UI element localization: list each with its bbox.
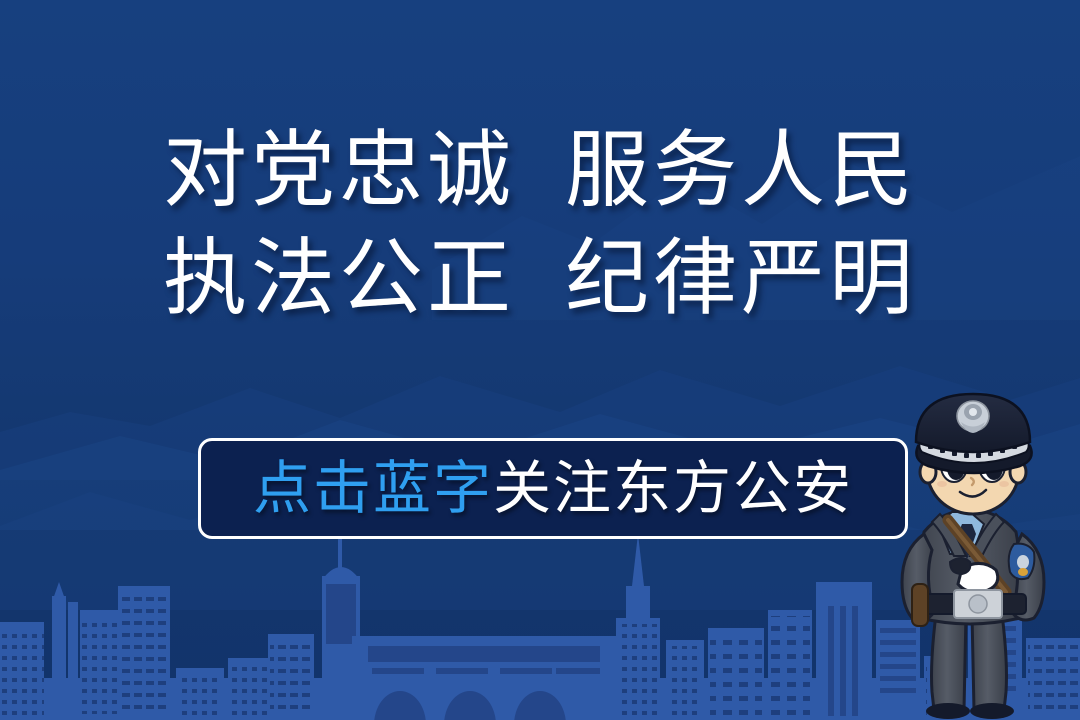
headline-block: 对党忠诚 服务人民 执法公正 纪律严明 (0, 118, 1080, 334)
headline-line-2: 执法公正 纪律严明 (0, 226, 1080, 334)
cta-plain-text: 关注东方公安 (493, 456, 853, 521)
follow-cta-text: 点击蓝字关注东方公安 (253, 458, 853, 520)
poster-canvas: 对党忠诚 服务人民 执法公正 纪律严明 点击蓝字关注东方公安 (0, 0, 1080, 720)
police-officer-mascot (866, 386, 1080, 720)
headline-line-1: 对党忠诚 服务人民 (0, 118, 1080, 226)
cta-highlight-text: 点击蓝字 (253, 456, 493, 521)
follow-cta-box[interactable]: 点击蓝字关注东方公安 (198, 438, 908, 539)
